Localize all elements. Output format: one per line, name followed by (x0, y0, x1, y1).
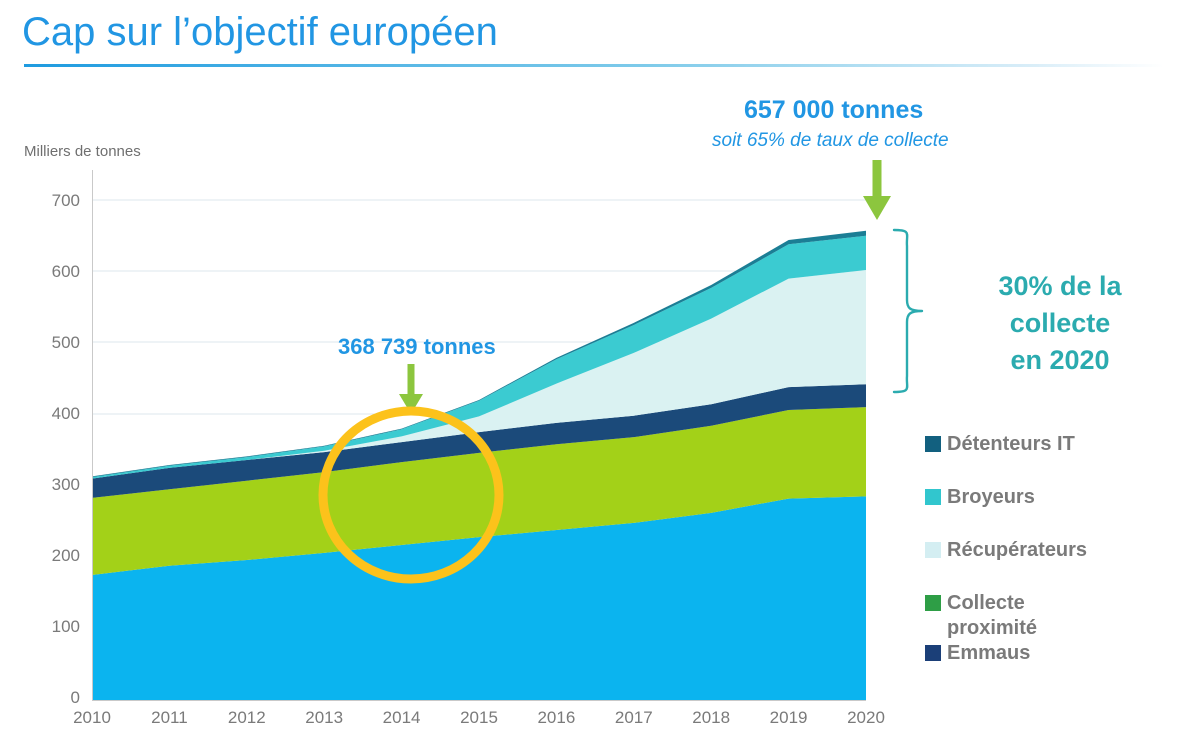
legend-label-collecte-proximite-line2: proximité (947, 617, 1037, 639)
title-underline (24, 64, 1164, 67)
legend-swatch-emmaus (925, 645, 941, 661)
page-title: Cap sur l’objectif européen (22, 10, 498, 55)
chart-legend: Détenteurs IT Broyeurs Récupérateurs Col… (925, 432, 1175, 666)
annotation-657000-subtitle: soit 65% de taux de collecte (712, 130, 949, 152)
y-tick-0: 0 (18, 688, 80, 708)
annotation-368739-value: 368 739 tonnes (338, 334, 496, 360)
x-tick-2011: 2011 (151, 708, 188, 728)
y-axis-title: Milliers de tonnes (24, 143, 141, 160)
y-tick-100: 100 (18, 617, 80, 637)
legend-item-broyeurs[interactable]: Broyeurs (925, 485, 1175, 510)
annotation-30-line1: 30% de la (960, 268, 1160, 305)
legend-label-emmaus: Emmaus (947, 641, 1030, 666)
x-tick-2014: 2014 (383, 708, 421, 728)
legend-label-collecte-proximite: Collecte proximité (947, 591, 1037, 641)
x-tick-2016: 2016 (537, 708, 575, 728)
legend-swatch-collecte-proximite (925, 595, 941, 611)
slide-canvas: Cap sur l’objectif européen Milliers de … (0, 0, 1184, 745)
highlight-circle-2014 (316, 402, 506, 588)
legend-swatch-recuperateurs (925, 542, 941, 558)
y-tick-200: 200 (18, 546, 80, 566)
legend-label-collecte-proximite-line1: Collecte (947, 592, 1025, 614)
annotation-30-line2: collecte (960, 305, 1160, 342)
legend-label-detenteurs-it: Détenteurs IT (947, 432, 1075, 457)
x-axis-line (92, 700, 866, 701)
x-tick-2017: 2017 (615, 708, 653, 728)
y-tick-700: 700 (18, 191, 80, 211)
y-axis-line (92, 170, 93, 701)
y-tick-300: 300 (18, 475, 80, 495)
legend-label-recuperateurs: Récupérateurs (947, 538, 1087, 563)
legend-swatch-broyeurs (925, 489, 941, 505)
legend-item-recuperateurs[interactable]: Récupérateurs (925, 538, 1175, 563)
legend-item-emmaus[interactable]: Emmaus (925, 641, 1175, 666)
legend-item-detenteurs-it[interactable]: Détenteurs IT (925, 432, 1175, 457)
x-axis-labels: 2010 2011 2012 2013 2014 2015 2016 2017 … (92, 708, 866, 736)
annotation-30-line3: en 2020 (960, 342, 1160, 379)
annotation-30-percent: 30% de la collecte en 2020 (960, 268, 1160, 379)
x-tick-2012: 2012 (228, 708, 266, 728)
x-tick-2013: 2013 (305, 708, 343, 728)
y-tick-400: 400 (18, 404, 80, 424)
x-tick-2010: 2010 (73, 708, 111, 728)
legend-label-broyeurs: Broyeurs (947, 485, 1035, 510)
x-tick-2018: 2018 (692, 708, 730, 728)
annotation-657000-value: 657 000 tonnes (744, 96, 923, 125)
x-tick-2015: 2015 (460, 708, 498, 728)
legend-item-collecte-proximite[interactable]: Collecte proximité (925, 591, 1175, 641)
x-tick-2019: 2019 (770, 708, 808, 728)
x-tick-2020: 2020 (847, 708, 885, 728)
legend-swatch-detenteurs-it (925, 436, 941, 452)
y-tick-500: 500 (18, 333, 80, 353)
y-tick-600: 600 (18, 262, 80, 282)
curly-brace-icon (892, 228, 938, 394)
